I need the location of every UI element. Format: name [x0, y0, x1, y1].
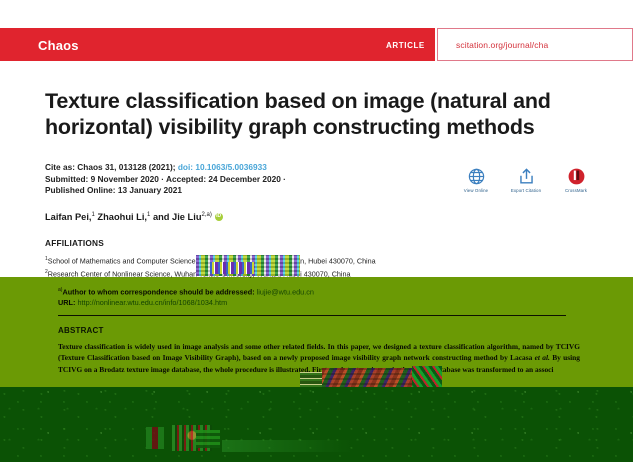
accepted-date: Accepted: 24 December 2020 [166, 174, 281, 184]
article-tools: View Online Export Citation CrossMar [452, 165, 602, 201]
crossmark-button[interactable]: CrossMark [552, 165, 600, 193]
crossmark-label: CrossMark [552, 188, 600, 193]
journal-name: Chaos [38, 38, 79, 53]
published-date: Published Online: 13 January 2021 [45, 185, 445, 197]
export-citation-button[interactable]: Export Citation [502, 165, 550, 193]
author-2: Zhaohui Li, [95, 212, 147, 222]
crossmark-icon [552, 165, 600, 187]
article-page: Chaos ARTICLE scitation.org/journal/cha … [0, 0, 633, 462]
section-label: ARTICLE [386, 41, 425, 50]
glitch-artifact-abstract-small [300, 372, 322, 387]
view-online-label: View Online [452, 188, 500, 193]
glitch-artifact-bottom-block [196, 430, 220, 448]
author-3: and Jie Liu [150, 212, 201, 222]
author-list: Laifan Pei,1 Zhaohui Li,1 and Jie Liu2,a… [45, 212, 223, 222]
olive-overlay [0, 277, 633, 387]
export-citation-label: Export Citation [502, 188, 550, 193]
author-3-affmark: 2,a) [202, 212, 212, 218]
journal-url-text: scitation.org/journal/cha [456, 40, 548, 50]
cite-as-text: Cite as: Chaos 31, 013128 (2021); [45, 162, 176, 172]
glitch-artifact-bottom-smear [222, 440, 352, 452]
journal-url-box[interactable]: scitation.org/journal/cha [437, 28, 633, 61]
view-online-button[interactable]: View Online [452, 165, 500, 193]
doi-link[interactable]: doi: 10.1063/5.0036933 [178, 162, 267, 172]
export-icon [502, 165, 550, 187]
submitted-date: Submitted: 9 November 2020 [45, 174, 159, 184]
affiliations-heading: AFFILIATIONS [45, 238, 104, 248]
author-1: Laifan Pei, [45, 212, 92, 222]
citation-block: Cite as: Chaos 31, 013128 (2021); doi: 1… [45, 162, 445, 197]
orcid-icon[interactable] [215, 213, 223, 221]
glitch-artifact-affiliations-secondary [210, 262, 254, 274]
article-title: Texture classification based on image (n… [45, 88, 600, 140]
glitch-artifact-bottom-bar [146, 427, 164, 449]
globe-icon [452, 165, 500, 187]
